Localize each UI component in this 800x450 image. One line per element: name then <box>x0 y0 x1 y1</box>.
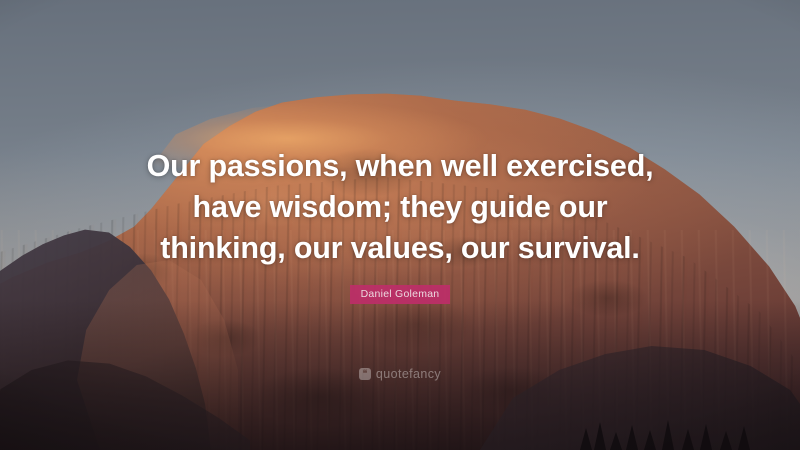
author-name-badge[interactable]: Daniel Goleman <box>350 285 451 304</box>
quote-image-canvas: Our passions, when well exercised, have … <box>0 0 800 450</box>
quote-line-2: have wisdom; they guide our <box>80 187 720 228</box>
brand-name: quotefancy <box>376 367 441 381</box>
tree-silhouettes <box>580 416 760 450</box>
brand-watermark: ❝ quotefancy <box>0 363 800 381</box>
quote-mark-icon: ❝ <box>359 368 371 380</box>
quote-line-1: Our passions, when well exercised, <box>80 146 720 187</box>
quote-text: Our passions, when well exercised, have … <box>0 146 800 269</box>
author-attribution: Daniel Goleman <box>0 284 800 304</box>
quote-line-3: thinking, our values, our survival. <box>80 228 720 269</box>
